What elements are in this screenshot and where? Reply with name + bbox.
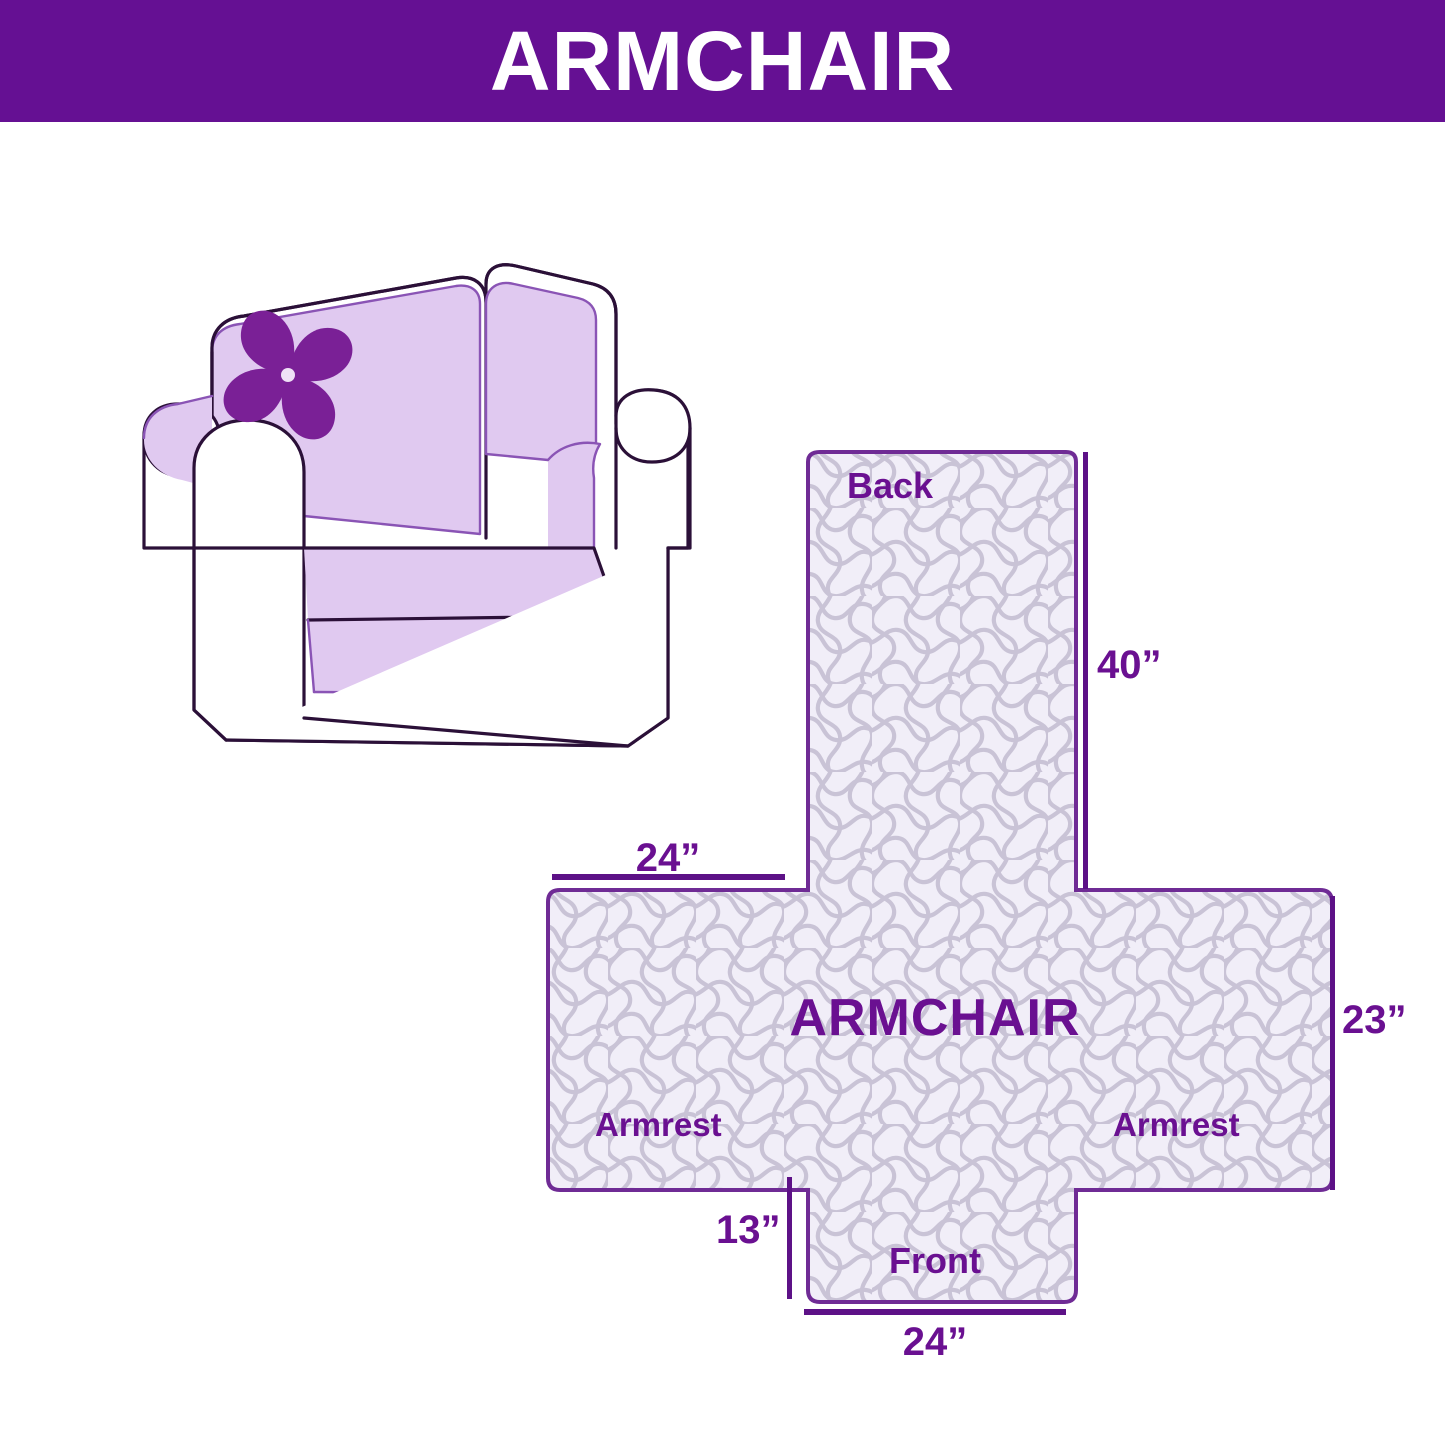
header-banner: ARMCHAIR: [0, 0, 1445, 122]
dimension-label-back-height: 40”: [1097, 645, 1162, 685]
dimension-label-center-height: 23”: [1342, 1000, 1407, 1040]
cover-layout-diagram: Back ARMCHAIR Armrest Armrest Front: [520, 420, 1420, 1380]
page-title: ARMCHAIR: [490, 19, 955, 103]
panel-label-armrest-right: Armrest: [1113, 1108, 1240, 1141]
dimension-line-back-height: [1083, 452, 1088, 889]
dimension-line-center-height: [1330, 896, 1335, 1190]
dimension-label-front-width: 24”: [903, 1322, 968, 1362]
dimension-label-front-height: 13”: [716, 1210, 781, 1250]
dimension-line-front-height: [787, 1177, 792, 1299]
panel-label-front: Front: [889, 1243, 981, 1279]
panel-label-armrest-left: Armrest: [595, 1108, 722, 1141]
dimension-line-front-width: [804, 1309, 1066, 1315]
panel-label-back: Back: [847, 468, 933, 504]
pinwheel-fan-icon: [224, 311, 353, 440]
panel-label-armchair: ARMCHAIR: [789, 992, 1080, 1044]
dimension-label-armrest-width: 24”: [636, 838, 701, 878]
